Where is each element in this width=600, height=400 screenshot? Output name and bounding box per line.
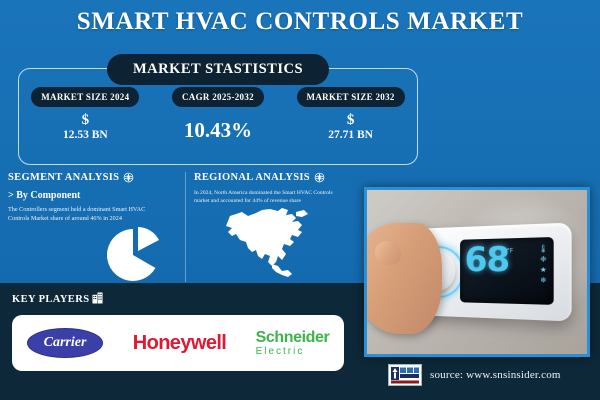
thermostat-screen: 68 °F 🌡 ❉ ★ ❄ [461, 237, 554, 305]
segment-analysis-heading-text: SEGMENT ANALYSIS [8, 172, 119, 183]
thermostat-temperature: 68 [465, 242, 510, 277]
stat-value: $ 12.53 BN [20, 112, 151, 141]
segment-analysis-section: SEGMENT ANALYSIS > By Component The Cont… [8, 172, 180, 224]
globe-icon [314, 172, 325, 183]
segment-subheading: > By Component [8, 190, 180, 201]
market-statistics-row: MARKET SIZE 2024 $ 12.53 BN CAGR 2025-20… [19, 87, 417, 142]
thermostat-photo-image: 68 °F 🌡 ❉ ★ ❄ [367, 190, 587, 354]
stat-label: CAGR 2025-2032 [172, 87, 264, 107]
stat-label: MARKET SIZE 2032 [297, 87, 405, 107]
stat-value: 10.43% [152, 119, 283, 142]
thermostat-photo: 68 °F 🌡 ❉ ★ ❄ [364, 187, 590, 357]
logo-schneider-electric: Schneider Electric [256, 330, 330, 357]
building-icon [92, 292, 103, 307]
market-statistics-card: MARKET STASTISTICS MARKET SIZE 2024 $ 12… [18, 68, 418, 165]
segment-analysis-heading: SEGMENT ANALYSIS [8, 172, 180, 183]
stat-value: $ 27.71 BN [285, 112, 416, 141]
page-title: SMART HVAC CONTROLS MARKET [0, 8, 600, 36]
stat-currency: $ [285, 112, 416, 129]
logo-schneider-secondary: Electric [256, 347, 330, 357]
infographic-canvas: SMART HVAC CONTROLS MARKET MARKET STASTI… [0, 0, 600, 400]
footer: source: www.snsinsider.com [388, 364, 561, 386]
thermostat-status-icons: 🌡 ❉ ★ ❄ [539, 245, 549, 284]
thermostat-temperature-unit: °F [507, 247, 514, 254]
market-statistics-label: MARKET STASTISTICS [107, 54, 329, 85]
globe-icon [123, 172, 134, 183]
logo-carrier: Carrier [27, 328, 104, 358]
stat-amount: 12.53 BN [20, 129, 151, 142]
stat-cagr: CAGR 2025-2032 10.43% [152, 87, 283, 142]
logo-honeywell: Honeywell [133, 332, 227, 355]
stat-currency: $ [20, 112, 151, 129]
key-players-heading-text: KEY PLAYERS [12, 294, 89, 305]
section-divider [185, 172, 186, 282]
finger [375, 241, 401, 266]
key-players-section: KEY PLAYERS [12, 292, 103, 307]
segment-description: The Controllers segment held a dominant … [8, 206, 166, 224]
logo-schneider-primary: Schneider [256, 330, 330, 346]
sns-insider-logo [388, 364, 422, 386]
hand-adjusting-dial [364, 223, 442, 335]
stat-amount: 27.71 BN [285, 129, 416, 142]
fan-icon: ❉ [540, 256, 546, 263]
source-label: source: www.snsinsider.com [430, 369, 561, 381]
stat-label: MARKET SIZE 2024 [31, 87, 139, 107]
snowflake-icon: ❄ [540, 277, 546, 284]
thermometer-icon: 🌡 [539, 245, 549, 253]
stat-market-size-2032: MARKET SIZE 2032 $ 27.71 BN [285, 87, 416, 141]
north-america-map [212, 204, 342, 282]
regional-analysis-section: REGIONAL ANALYSIS In 2024, North America… [194, 172, 354, 206]
key-players-heading: KEY PLAYERS [12, 292, 103, 307]
regional-analysis-heading: REGIONAL ANALYSIS [194, 172, 354, 183]
star-icon: ★ [540, 266, 547, 273]
key-players-logo-box: Carrier Honeywell Schneider Electric [12, 315, 344, 371]
segment-pie-chart [95, 224, 175, 286]
regional-analysis-heading-text: REGIONAL ANALYSIS [194, 172, 310, 183]
stat-market-size-2024: MARKET SIZE 2024 $ 12.53 BN [20, 87, 151, 141]
